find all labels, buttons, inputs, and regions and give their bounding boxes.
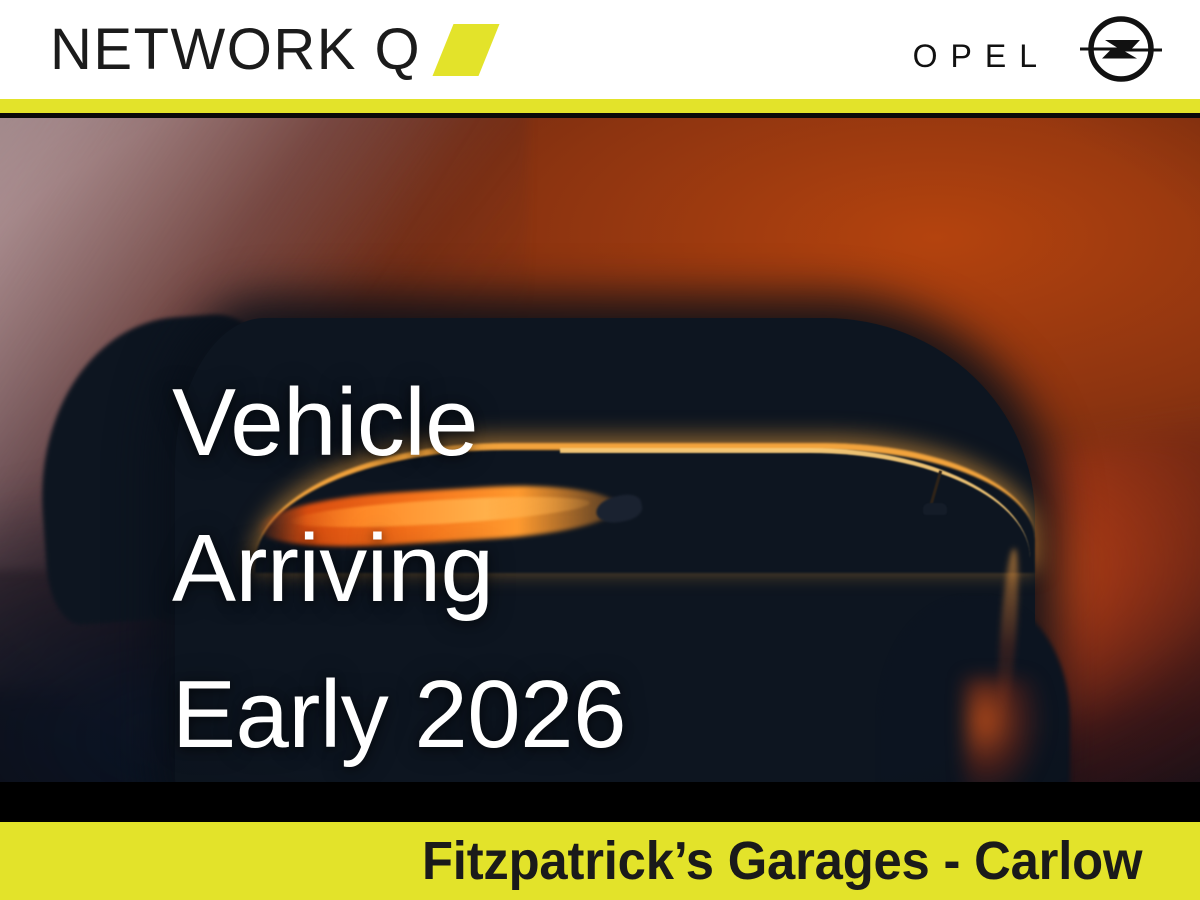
headline-block: Vehicle Arriving Early 2026 (172, 350, 972, 782)
yellow-slash-icon (433, 24, 500, 76)
headline-line-2: Arriving (172, 496, 972, 642)
network-q-wordmark: NETWORK Q (50, 20, 421, 80)
headline-line-3: Early 2026 (172, 642, 972, 782)
network-q-logo: NETWORK Q (50, 20, 489, 80)
promo-poster: NETWORK Q OPEL (0, 0, 1200, 900)
poster-header: NETWORK Q OPEL (0, 0, 1200, 99)
opel-wordmark: OPEL (913, 24, 1050, 74)
hero-image: Vehicle Arriving Early 2026 (0, 118, 1200, 782)
opel-blitz-icon (1076, 12, 1166, 86)
opel-logo: OPEL (913, 12, 1166, 86)
headline-line-1: Vehicle (172, 350, 972, 496)
top-yellow-stripe (0, 99, 1200, 113)
dealer-name: Fitzpatrick’s Garages - Carlow (422, 831, 1142, 891)
footer-black-bar (0, 782, 1200, 822)
footer-yellow-bar: Fitzpatrick’s Garages - Carlow (0, 822, 1200, 900)
